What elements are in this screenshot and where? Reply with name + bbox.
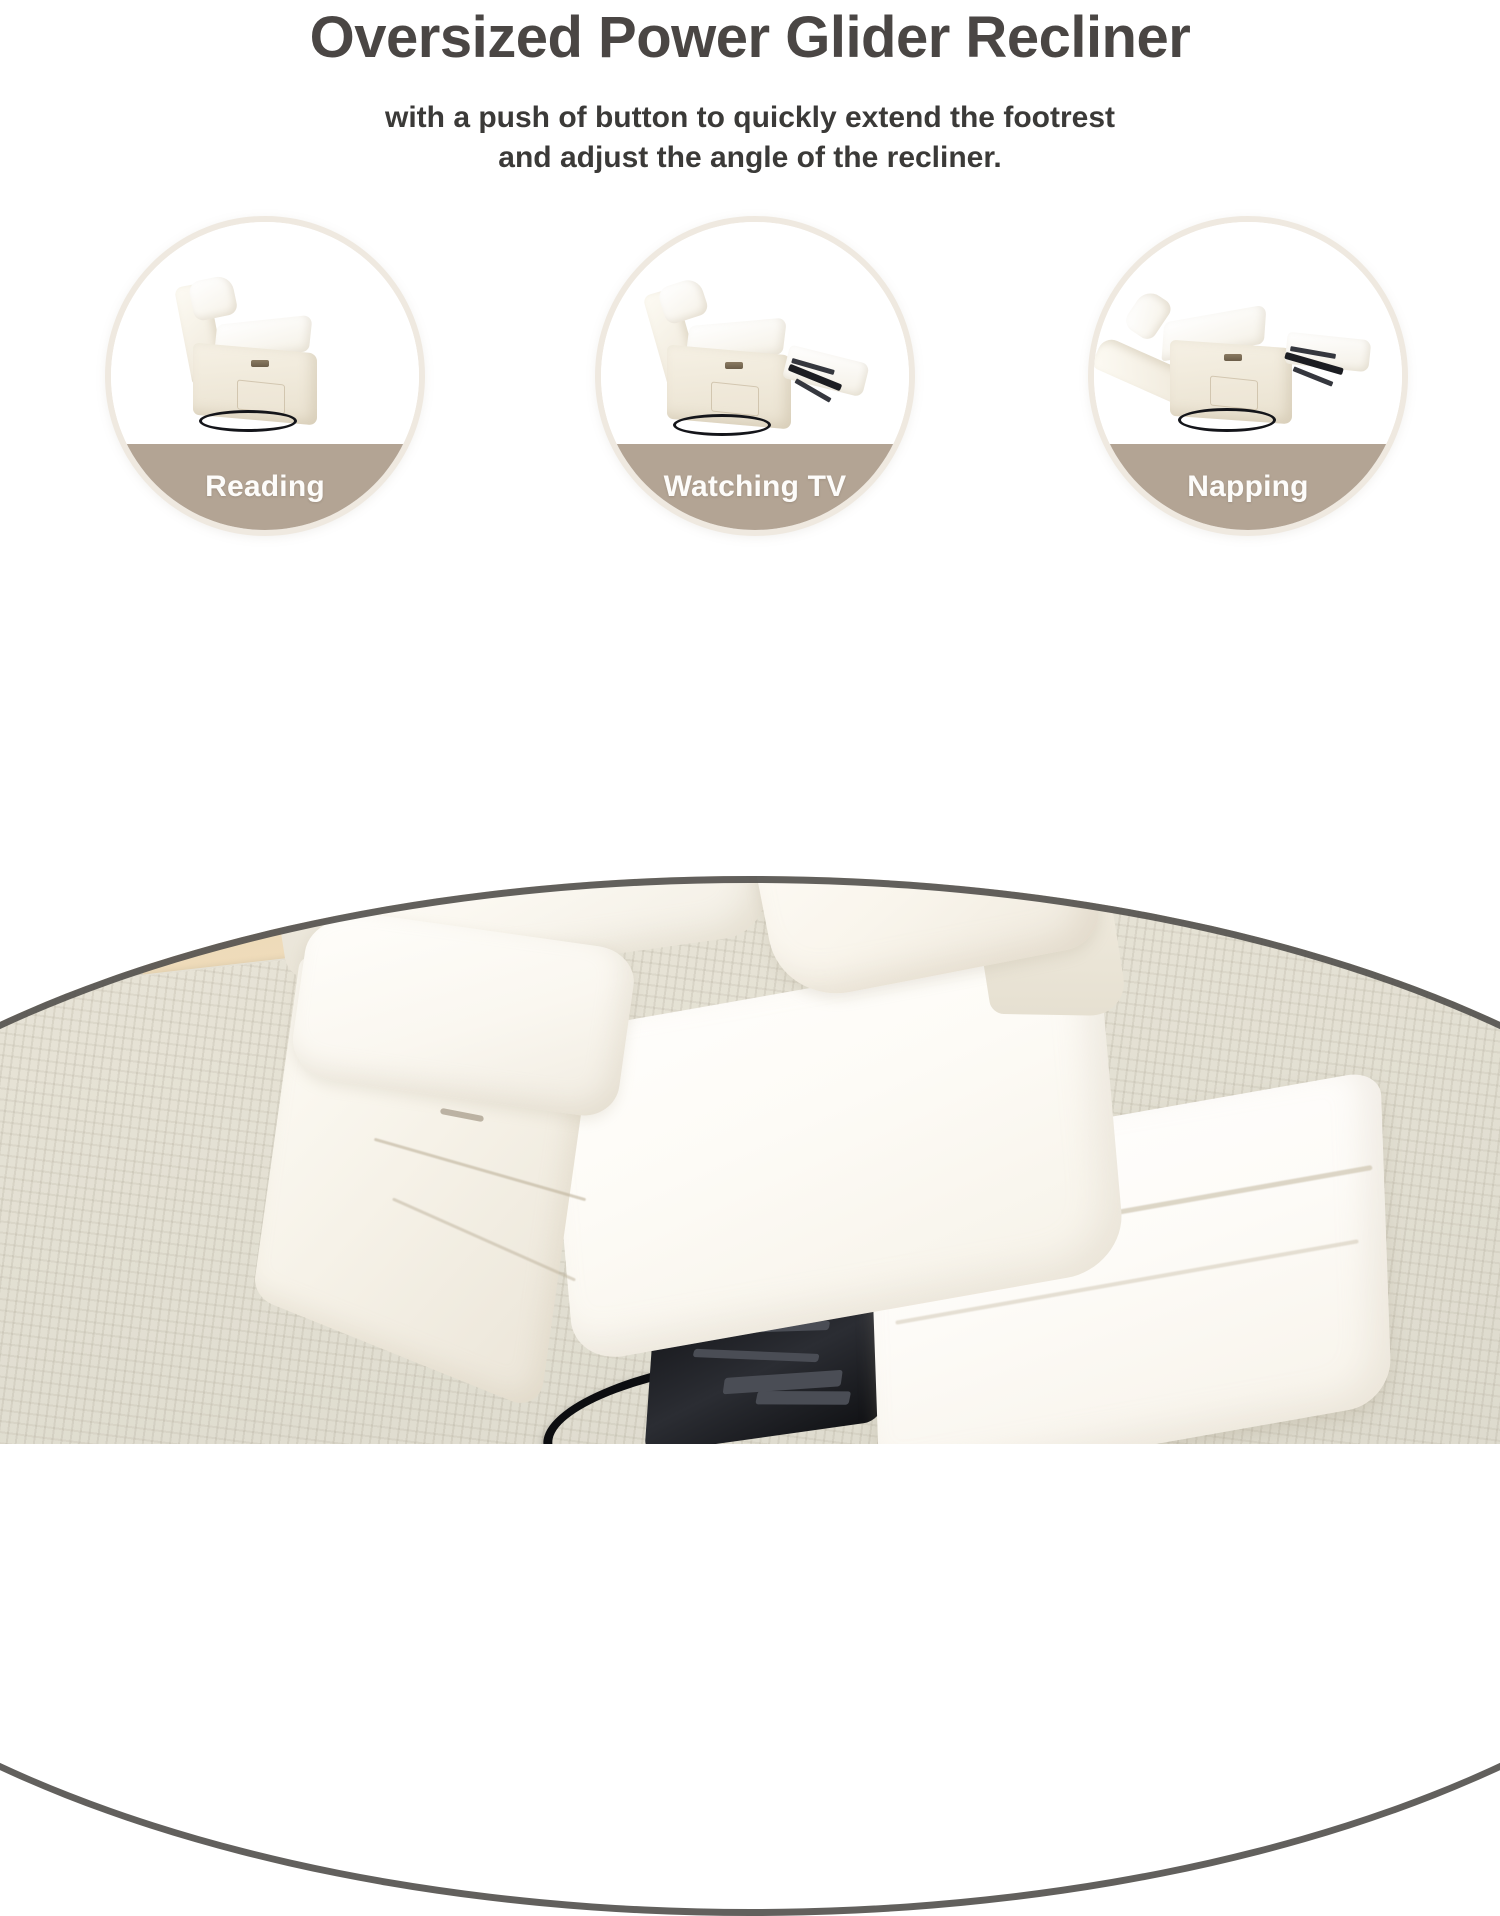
header-block: Oversized Power Glider Recliner with a p…: [0, 0, 1500, 200]
planter-pot-rim: [0, 818, 150, 852]
backrest-seam: [341, 723, 751, 778]
recliner-chair: [280, 556, 1310, 1436]
page-title: Oversized Power Glider Recliner: [0, 4, 1500, 71]
callout-reading[interactable]: Reading: [105, 216, 425, 536]
callout-band-reading: Reading: [111, 444, 419, 530]
callout-watching-tv[interactable]: Watching TV: [595, 216, 915, 536]
page-subtitle: with a push of button to quickly extend …: [0, 98, 1500, 177]
product-scene-photo: [0, 436, 1500, 1444]
storage-cabinet-front: [810, 552, 1048, 695]
baseboard: [0, 630, 1010, 734]
planter-soil: [18, 828, 114, 850]
callout-label-napping: Napping: [1187, 470, 1308, 504]
storage-cabinet-side: [700, 550, 818, 685]
callout-band-watching-tv: Watching TV: [601, 444, 909, 530]
callout-label-reading: Reading: [205, 470, 325, 504]
callout-napping[interactable]: Napping: [1088, 216, 1408, 536]
callout-label-watching-tv: Watching TV: [664, 470, 847, 504]
backrest-upper-cushion: [292, 525, 718, 837]
planter-pot: [0, 822, 146, 1002]
callout-band-napping: Napping: [1094, 444, 1402, 530]
subtitle-line-1: with a push of button to quickly extend …: [0, 98, 1500, 138]
subtitle-line-2: and adjust the angle of the recliner.: [0, 138, 1500, 178]
